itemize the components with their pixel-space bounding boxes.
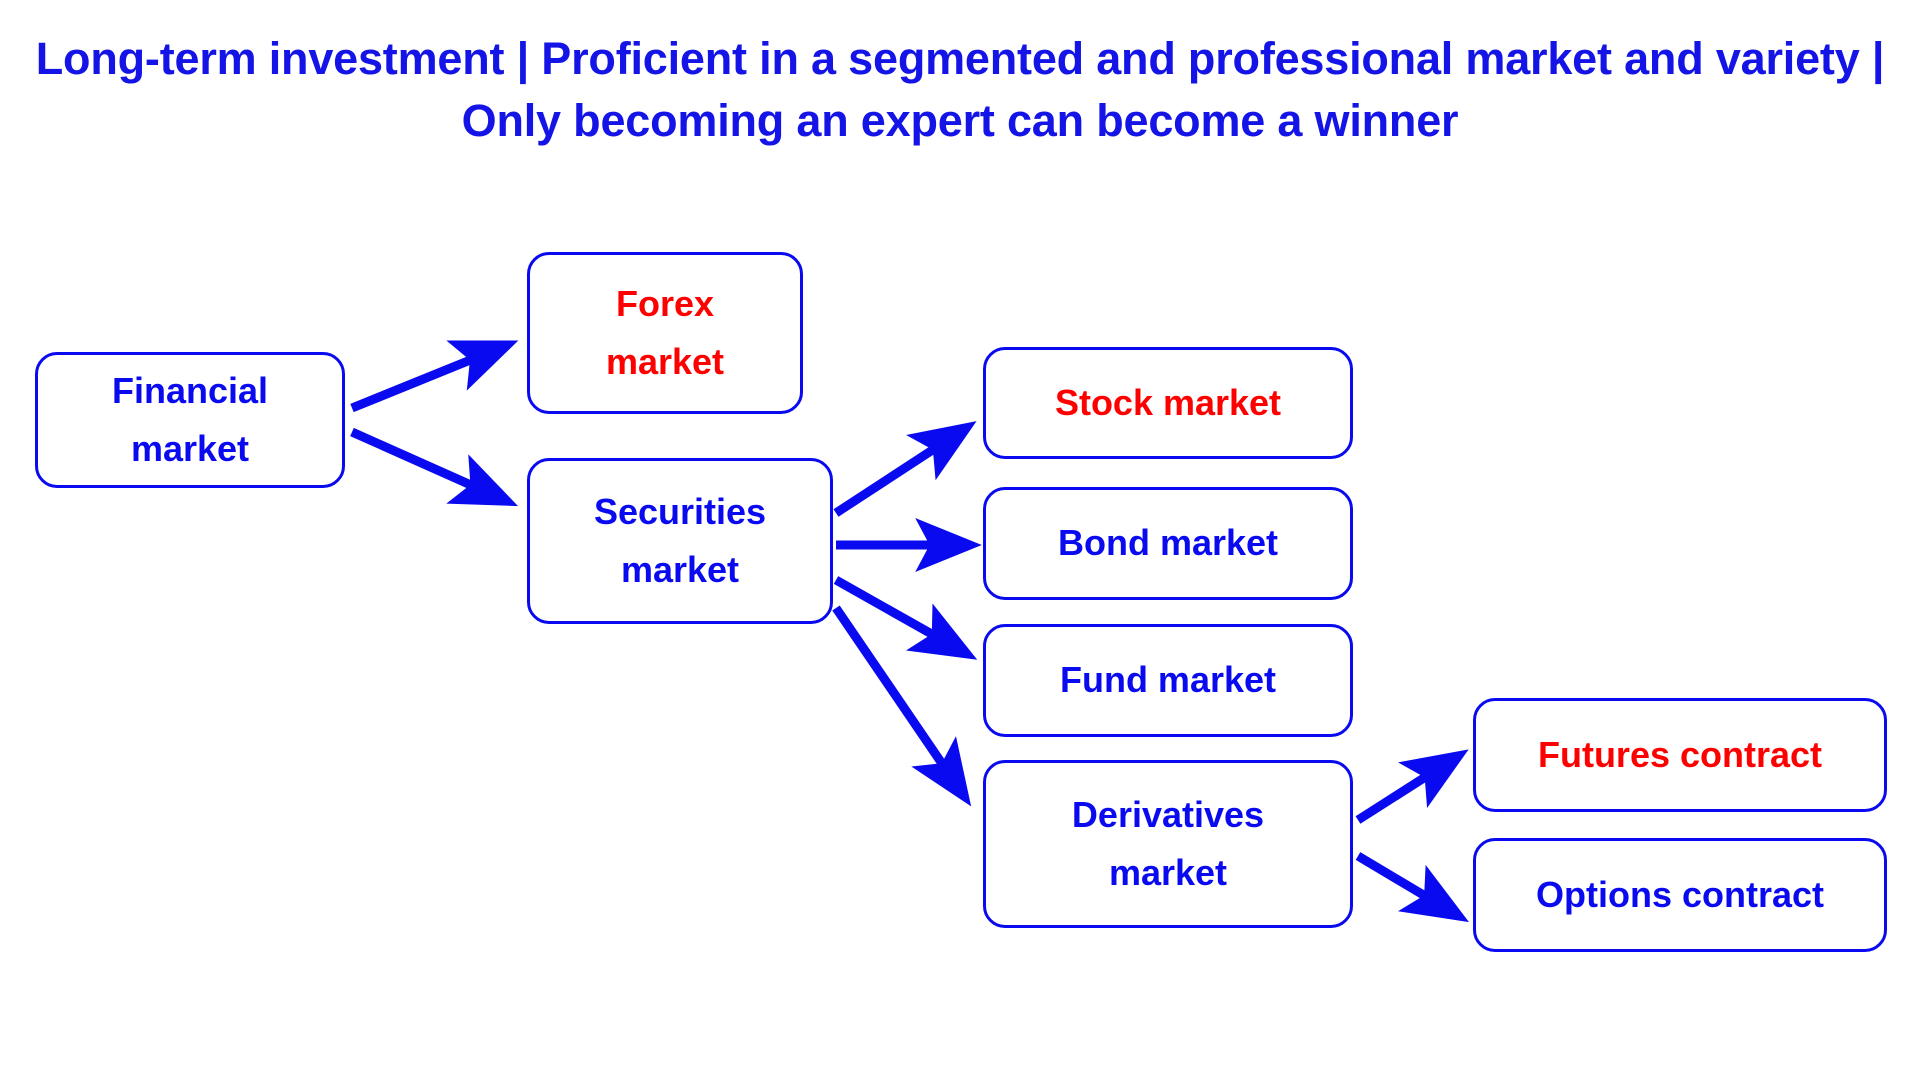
node-label-line-1: Fund market [1060, 651, 1276, 709]
edge-securities-stock [836, 432, 960, 513]
node-fund-market[interactable]: Fund market [983, 624, 1353, 737]
node-label-line-1: Financial [112, 362, 268, 420]
node-financial-market[interactable]: Financial market [35, 352, 345, 488]
node-label-line-2: market [606, 333, 724, 391]
node-bond-market[interactable]: Bond market [983, 487, 1353, 600]
node-label-line-1: Securities [594, 483, 766, 541]
node-futures-contract[interactable]: Futures contract [1473, 698, 1887, 812]
node-label-line-1: Bond market [1058, 514, 1278, 572]
node-label-line-1: Forex [616, 275, 714, 333]
edge-derivatives-options [1358, 856, 1452, 912]
node-label-line-1: Options contract [1536, 866, 1824, 924]
node-securities-market[interactable]: Securities market [527, 458, 833, 624]
edge-securities-derivatives [836, 608, 960, 790]
node-label-line-1: Futures contract [1538, 726, 1822, 784]
title-line-1: Long-term investment | Proficient in a s… [36, 33, 1704, 84]
node-label-line-1: Derivatives [1072, 786, 1264, 844]
node-stock-market[interactable]: Stock market [983, 347, 1353, 459]
edge-derivatives-futures [1358, 760, 1452, 820]
edge-securities-fund [836, 580, 960, 650]
node-options-contract[interactable]: Options contract [1473, 838, 1887, 952]
node-label-line-2: market [131, 420, 249, 478]
slide-canvas: Long-term investment | Proficient in a s… [0, 0, 1920, 1080]
node-label-line-1: Stock market [1055, 374, 1281, 432]
edge-financial-forex [352, 348, 500, 408]
node-forex-market[interactable]: Forex market [527, 252, 803, 414]
node-label-line-2: market [1109, 844, 1227, 902]
edge-financial-securities [352, 432, 500, 498]
node-derivatives-market[interactable]: Derivatives market [983, 760, 1353, 928]
node-label-line-2: market [621, 541, 739, 599]
page-title: Long-term investment | Proficient in a s… [30, 28, 1890, 152]
